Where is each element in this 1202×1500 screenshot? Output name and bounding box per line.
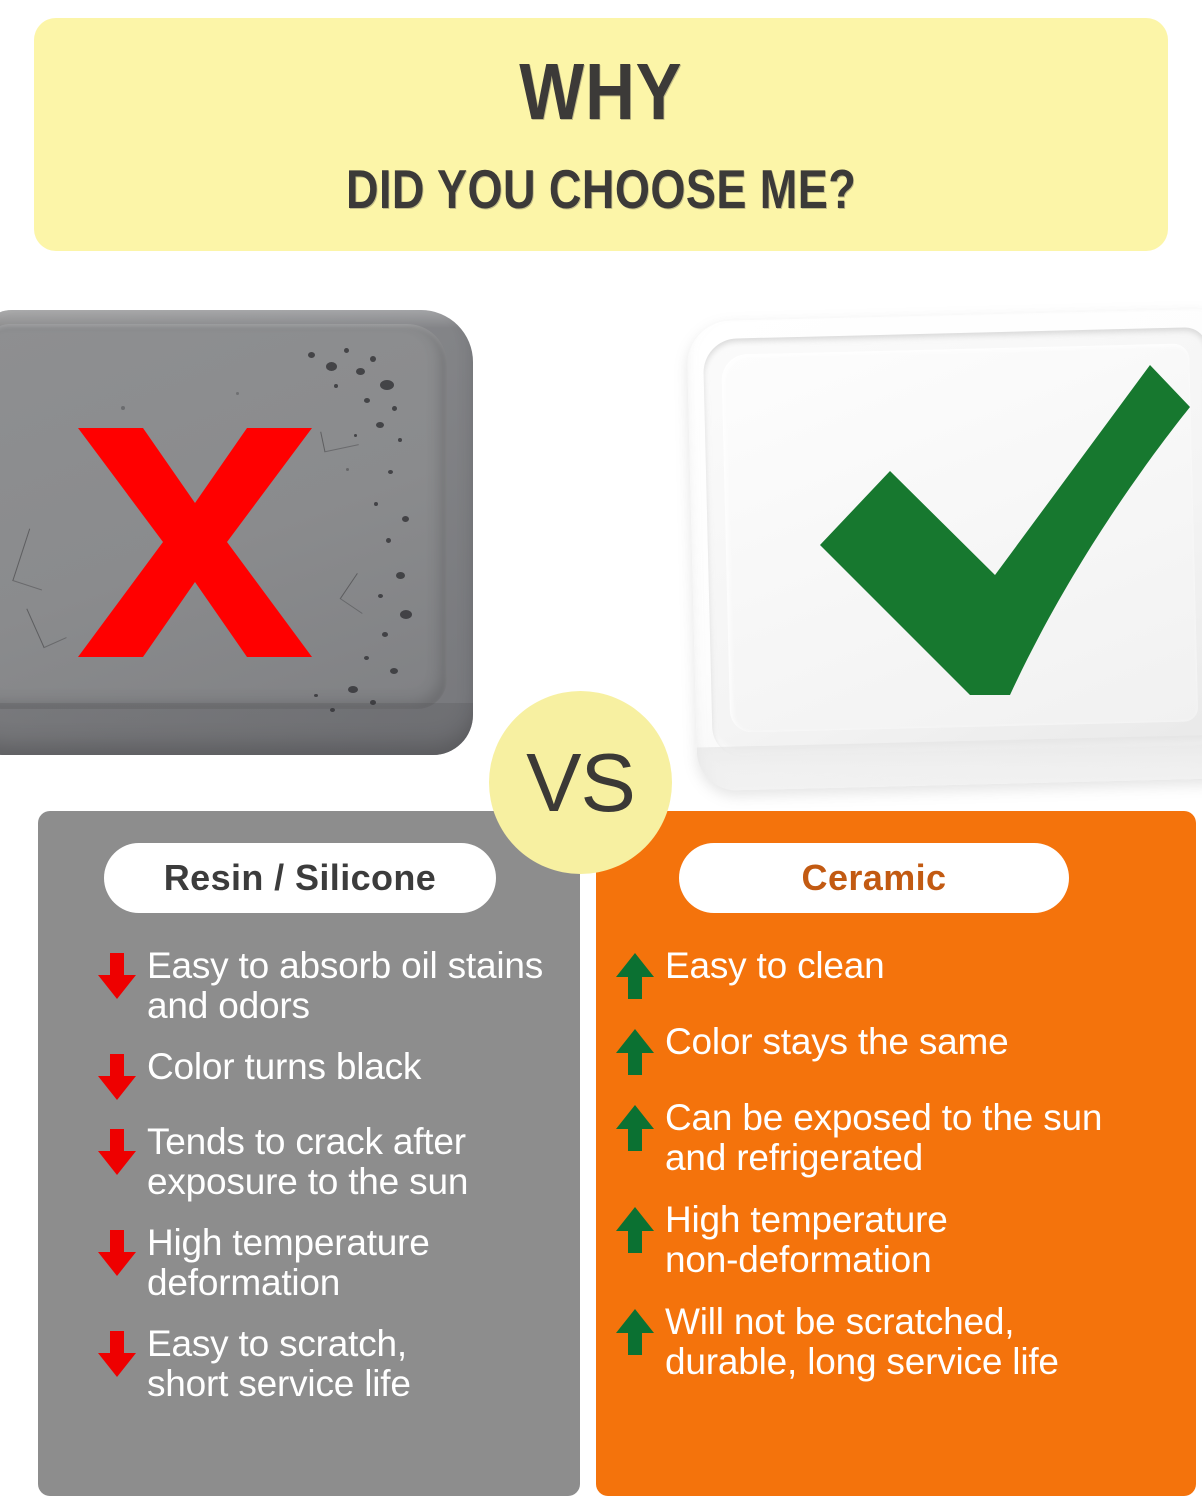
- feature-list-ceramic: Easy to clean Color stays the same Can b…: [596, 946, 1196, 1486]
- product-comparison-images: VS: [0, 255, 1202, 800]
- gray-resin-tray-image: [0, 310, 473, 755]
- feature-text: Easy to clean: [665, 946, 885, 986]
- feature-text: Color turns black: [147, 1047, 421, 1087]
- arrow-up-icon: [614, 1029, 656, 1075]
- arrow-up-icon: [614, 1309, 656, 1355]
- header-banner: WHY DID YOU CHOOSE ME?: [34, 18, 1168, 251]
- arrow-down-icon: [96, 1054, 138, 1100]
- list-item: Easy to clean: [596, 946, 1196, 999]
- panel-title-ceramic: Ceramic: [802, 860, 947, 896]
- arrow-up-icon: [614, 1207, 656, 1253]
- comparison-panels: Resin / Silicone Easy to absorb oil stai…: [0, 800, 1202, 1500]
- list-item: High temperature deformation: [38, 1223, 580, 1302]
- page-title-line1: WHY: [519, 52, 682, 132]
- list-item: Color turns black: [38, 1047, 580, 1100]
- feature-text: Will not be scratched, durable, long ser…: [665, 1302, 1059, 1381]
- panel-title-pill-left: Resin / Silicone: [104, 843, 496, 913]
- list-item: Tends to crack after exposure to the sun: [38, 1122, 580, 1201]
- gray-tray-bottom-lip: [0, 703, 473, 755]
- panel-title-pill-right: Ceramic: [679, 843, 1069, 913]
- arrow-down-icon: [96, 1230, 138, 1276]
- arrow-down-icon: [96, 953, 138, 999]
- panel-ceramic: Ceramic Easy to clean Color stays the sa…: [596, 811, 1196, 1496]
- vs-label: VS: [526, 741, 635, 824]
- x-mark-icon: [75, 425, 315, 660]
- check-mark-icon: [820, 365, 1190, 695]
- arrow-down-icon: [96, 1331, 138, 1377]
- arrow-up-icon: [614, 953, 656, 999]
- feature-text: Color stays the same: [665, 1022, 1009, 1062]
- feature-text: Can be exposed to the sun and refrigerat…: [665, 1098, 1102, 1177]
- panel-title-resin-silicone: Resin / Silicone: [164, 860, 436, 896]
- vs-badge: VS: [489, 691, 672, 874]
- page-title-line2: DID YOU CHOOSE ME?: [346, 162, 856, 217]
- list-item: Will not be scratched, durable, long ser…: [596, 1302, 1196, 1381]
- list-item: High temperature non-deformation: [596, 1200, 1196, 1279]
- arrow-up-icon: [614, 1105, 656, 1151]
- gray-tray-rim-highlight: [0, 310, 473, 328]
- panel-resin-silicone: Resin / Silicone Easy to absorb oil stai…: [38, 811, 580, 1496]
- list-item: Easy to scratch, short service life: [38, 1324, 580, 1403]
- arrow-down-icon: [96, 1129, 138, 1175]
- feature-text: Easy to absorb oil stains and odors: [147, 946, 543, 1025]
- list-item: Color stays the same: [596, 1022, 1196, 1075]
- feature-text: Tends to crack after exposure to the sun: [147, 1122, 468, 1201]
- list-item: Easy to absorb oil stains and odors: [38, 946, 580, 1025]
- feature-text: High temperature non-deformation: [665, 1200, 948, 1279]
- list-item: Can be exposed to the sun and refrigerat…: [596, 1098, 1196, 1177]
- feature-list-resin-silicone: Easy to absorb oil stains and odors Colo…: [38, 946, 580, 1486]
- feature-text: High temperature deformation: [147, 1223, 430, 1302]
- feature-text: Easy to scratch, short service life: [147, 1324, 411, 1403]
